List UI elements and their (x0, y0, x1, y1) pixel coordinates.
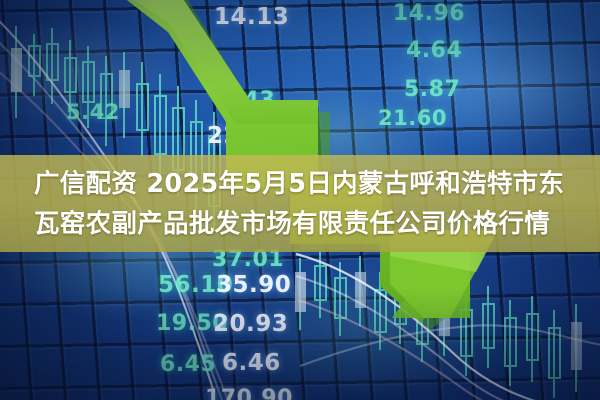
banner-image: 14.1314.964.645.875.435.4221.6022.4337.0… (0, 0, 600, 400)
title-line-1: 广信配资 2025年5月5日内蒙古呼和浩特市东 (34, 164, 584, 204)
title-line-2: 瓦窑农副产品批发市场有限责任公司价格行情 (34, 204, 584, 244)
title-overlay-band: 广信配资 2025年5月5日内蒙古呼和浩特市东 瓦窑农副产品批发市场有限责任公司… (0, 155, 600, 252)
